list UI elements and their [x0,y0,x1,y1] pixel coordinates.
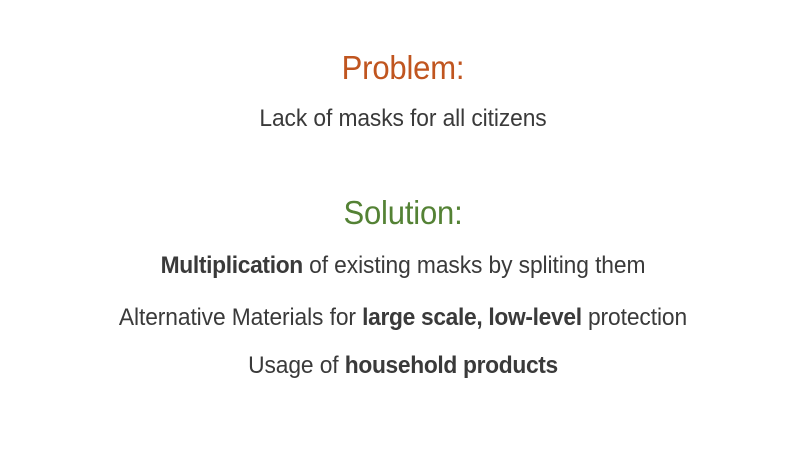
solution-line-2-rest: protection [582,304,687,331]
solution-line-3-lead: Usage of [248,352,345,379]
solution-line-2-lead: Alternative Materials for [119,304,362,331]
solution-line-3-emphasis: household products [345,352,558,379]
solution-heading: Solution: [24,194,782,232]
solution-bullet-alternative-materials: Alternative Materials for large scale, l… [28,303,778,333]
solution-line-2-emphasis: large scale, low-level [362,304,582,331]
solution-heading-text: Solution: [343,194,462,231]
problem-heading-text: Problem: [342,49,465,86]
problem-subtitle-text: Lack of masks for all citizens [259,105,546,132]
presentation-slide: Problem: Lack of masks for all citizens … [0,0,806,453]
problem-subtitle: Lack of masks for all citizens [28,104,778,134]
solution-bullet-household-products: Usage of household products [28,351,778,381]
problem-heading: Problem: [24,49,782,87]
solution-bullet-multiplication: Multiplication of existing masks by spli… [28,251,778,281]
solution-line-1-rest: of existing masks by spliting them [303,252,645,279]
solution-line-1-emphasis: Multiplication [161,252,303,279]
